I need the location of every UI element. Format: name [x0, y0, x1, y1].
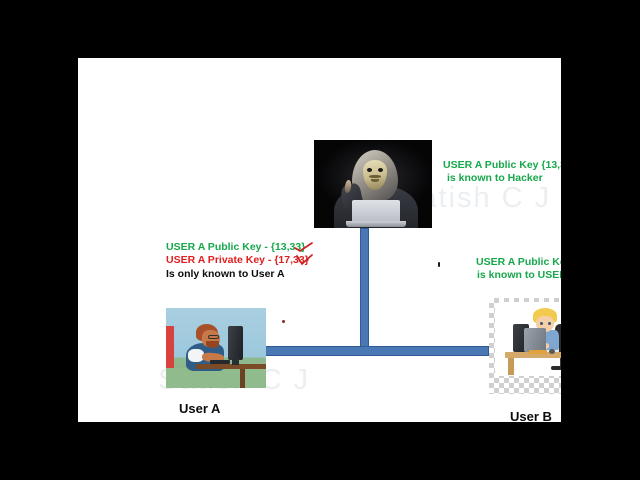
monitor-icon-primary	[524, 328, 546, 352]
connector-bar-vertical	[360, 228, 369, 355]
stray-ink-mark	[438, 262, 440, 267]
user-b-callout-line2: is known to USER B	[476, 269, 561, 282]
background-red-panel	[166, 326, 174, 372]
mouse-icon	[549, 349, 555, 354]
monitor-icon	[228, 326, 243, 360]
presentation-slide: Satish C J Satish C J USER A Public Key …	[78, 58, 561, 422]
user-a-public-key-line: USER A Public Key - {13,33}	[166, 241, 309, 254]
hacker-callout-text: USER A Public Key {13,33} is known to Ha…	[443, 159, 561, 186]
user-a-caption: User A	[179, 401, 220, 416]
hacker-callout-line2: is known to Hacker	[443, 172, 561, 185]
connector-bar-horizontal	[263, 346, 489, 356]
desk-top	[196, 364, 266, 369]
desk-leg	[240, 369, 245, 388]
user-a-beard	[206, 341, 219, 348]
desk-leg-left	[508, 358, 514, 375]
user-b-image	[489, 298, 561, 394]
chair-base	[551, 366, 561, 370]
user-b-caption: User B	[510, 409, 552, 422]
user-b-callout-text: USER A Public Key {13,33} is known to US…	[476, 256, 561, 283]
hacker-image	[314, 140, 432, 228]
laptop-screen	[352, 200, 400, 222]
check-mark-icon	[296, 254, 314, 266]
check-mark-icon	[294, 242, 314, 253]
mask-eye-right	[378, 168, 383, 172]
user-b-eye-left	[540, 322, 543, 325]
keyboard-icon	[210, 360, 230, 364]
floor	[166, 368, 266, 388]
laptop-base	[346, 221, 406, 227]
hacker-callout-line1: USER A Public Key {13,33}	[443, 159, 561, 172]
stray-ink-dot	[282, 320, 285, 323]
keyboard-icon	[529, 350, 547, 354]
mask-eye-left	[367, 168, 372, 172]
video-player-frame: Satish C J Satish C J USER A Public Key …	[0, 0, 640, 480]
glasses-icon	[208, 335, 219, 339]
user-a-private-key-line: USER A Private Key - {17,33}	[166, 254, 309, 267]
user-a-callout-text: USER A Public Key - {13,33} USER A Priva…	[166, 241, 309, 281]
user-a-known-only-line: Is only known to User A	[166, 268, 309, 281]
monitor-stand	[232, 358, 239, 365]
user-b-eye-right	[548, 322, 551, 325]
mask-mouth	[371, 179, 379, 182]
user-b-callout-line1: USER A Public Key {13,33}	[476, 256, 561, 269]
user-a-image	[166, 308, 266, 388]
mask-moustache	[369, 175, 381, 178]
